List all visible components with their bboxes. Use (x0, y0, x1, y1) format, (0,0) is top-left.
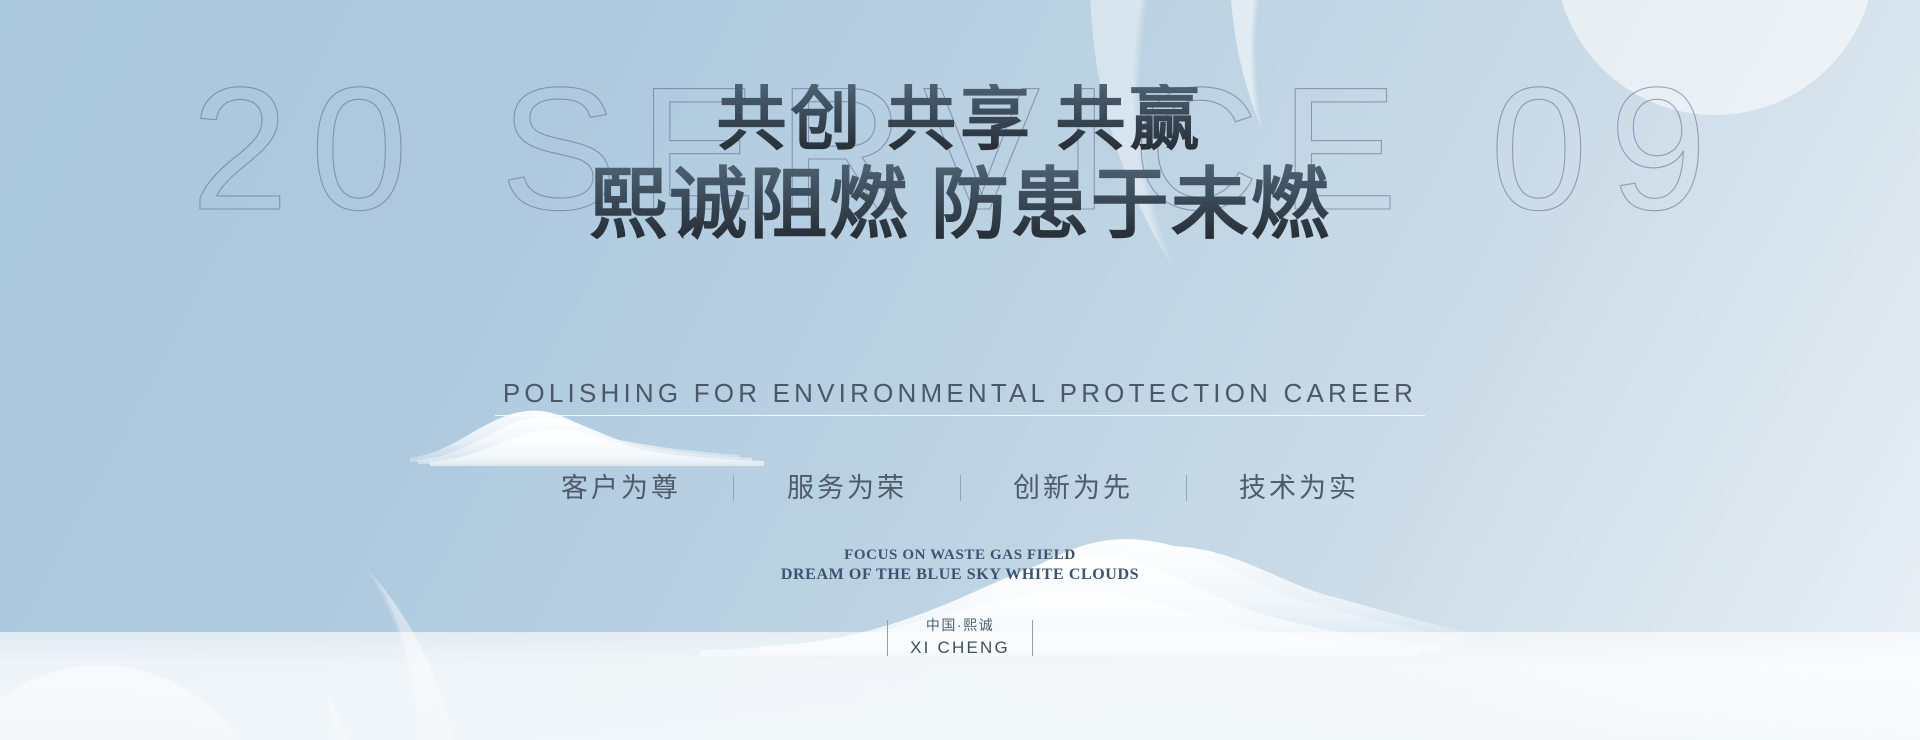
value-separator-1 (733, 475, 734, 501)
footer-brand-en: XI CHENG (910, 636, 1010, 660)
footer-rule-right (1032, 620, 1033, 656)
value-item-3: 创新为先 (1013, 473, 1133, 503)
sub-serif-block: FOCUS ON WASTE GAS FIELD DREAM OF THE BL… (0, 546, 1920, 586)
headline-line-1: 共创 共享 共赢 (0, 84, 1920, 158)
sub-serif-line-2: DREAM OF THE BLUE SKY WHITE CLOUDS (0, 565, 1920, 585)
value-separator-2 (960, 475, 961, 501)
promotional-banner: 20 SERVICE 09 共创 共享 共赢 熙诚阻燃 防患于未燃 POLISH… (0, 0, 1920, 740)
headline-line-2: 熙诚阻燃 防患于未燃 (0, 164, 1920, 247)
mountain-left-group (410, 411, 764, 466)
footer-brand-cn: 中国·熙诚 (910, 615, 1010, 636)
value-separator-3 (1186, 475, 1187, 501)
footer-rule-left (887, 620, 888, 656)
english-tagline: POLISHING FOR ENVIRONMENTAL PROTECTION C… (0, 378, 1920, 409)
sub-serif-line-1: FOCUS ON WASTE GAS FIELD (0, 546, 1920, 565)
value-item-1: 客户为尊 (561, 473, 681, 503)
value-item-4: 技术为实 (1239, 473, 1359, 503)
values-row: 客户为尊 服务为荣 创新为先 技术为实 (0, 466, 1920, 505)
tagline-underline (495, 415, 1425, 416)
headline-block: 共创 共享 共赢 熙诚阻燃 防患于未燃 (0, 84, 1920, 247)
value-item-2: 服务为荣 (787, 473, 907, 503)
footer-brand: 中国·熙诚 XI CHENG (910, 615, 1010, 660)
footer-logo-lockup: 中国·熙诚 XI CHENG (0, 615, 1920, 660)
